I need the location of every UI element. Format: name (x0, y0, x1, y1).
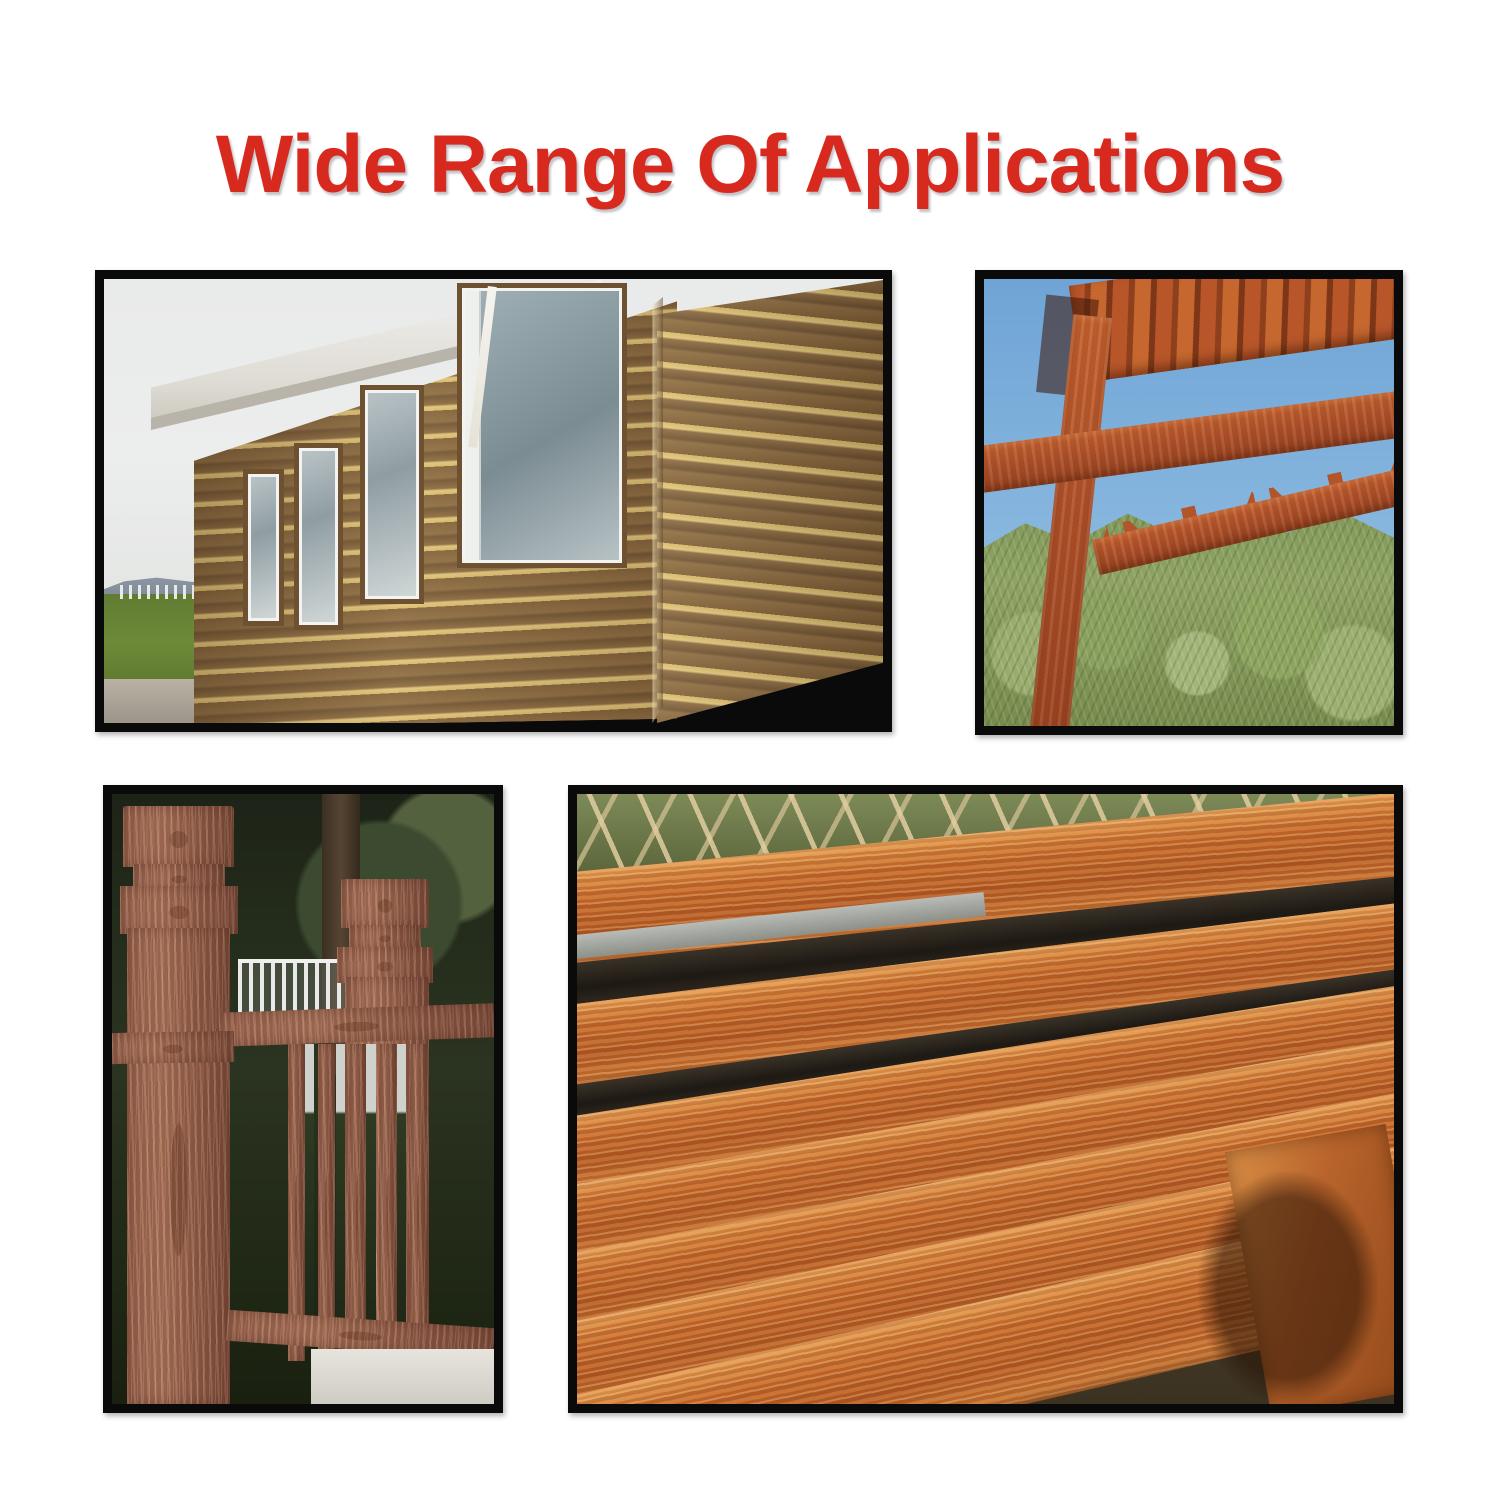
image-panel-stacked-wood-planks[interactable] (568, 785, 1403, 1413)
baluster-gap-4 (397, 1044, 406, 1349)
pergola-scene (984, 279, 1394, 726)
stacked-planks-scene (577, 794, 1394, 1404)
window-medium (365, 390, 420, 599)
fence-baluster-5 (410, 1044, 427, 1361)
image-panel-fence-railing-posts[interactable] (103, 785, 503, 1413)
fence-railing-scene (112, 794, 494, 1404)
fence-baluster-4 (379, 1044, 396, 1361)
image-panel-house-exterior-siding[interactable] (95, 270, 892, 732)
fence-post-right-cap (341, 879, 429, 928)
ground-surface (311, 1349, 494, 1404)
fence-baluster-3 (349, 1044, 366, 1361)
window-large (462, 288, 622, 563)
window-small-2 (299, 448, 338, 626)
fence-post-left-body (127, 928, 230, 1404)
house-exterior-scene (104, 279, 883, 723)
fence-baluster-2 (318, 1044, 335, 1361)
corner-trim (652, 279, 663, 723)
baluster-gap-3 (366, 1044, 375, 1349)
page-title: Wide Range Of Applications (0, 118, 1500, 212)
fence-top-rail-left (112, 1031, 234, 1064)
baluster-gap-2 (336, 1044, 345, 1349)
baluster-gap-1 (305, 1044, 314, 1349)
fence-post-left-cap (123, 806, 234, 867)
window-small-1 (248, 474, 279, 621)
side-siding-wall (657, 279, 883, 723)
cast-shadow (1198, 1172, 1378, 1404)
applications-collage-page: Wide Range Of Applications (0, 0, 1500, 1500)
fence-post-left-collar (120, 886, 238, 935)
image-panel-pergola-beam-structure[interactable] (975, 270, 1403, 735)
